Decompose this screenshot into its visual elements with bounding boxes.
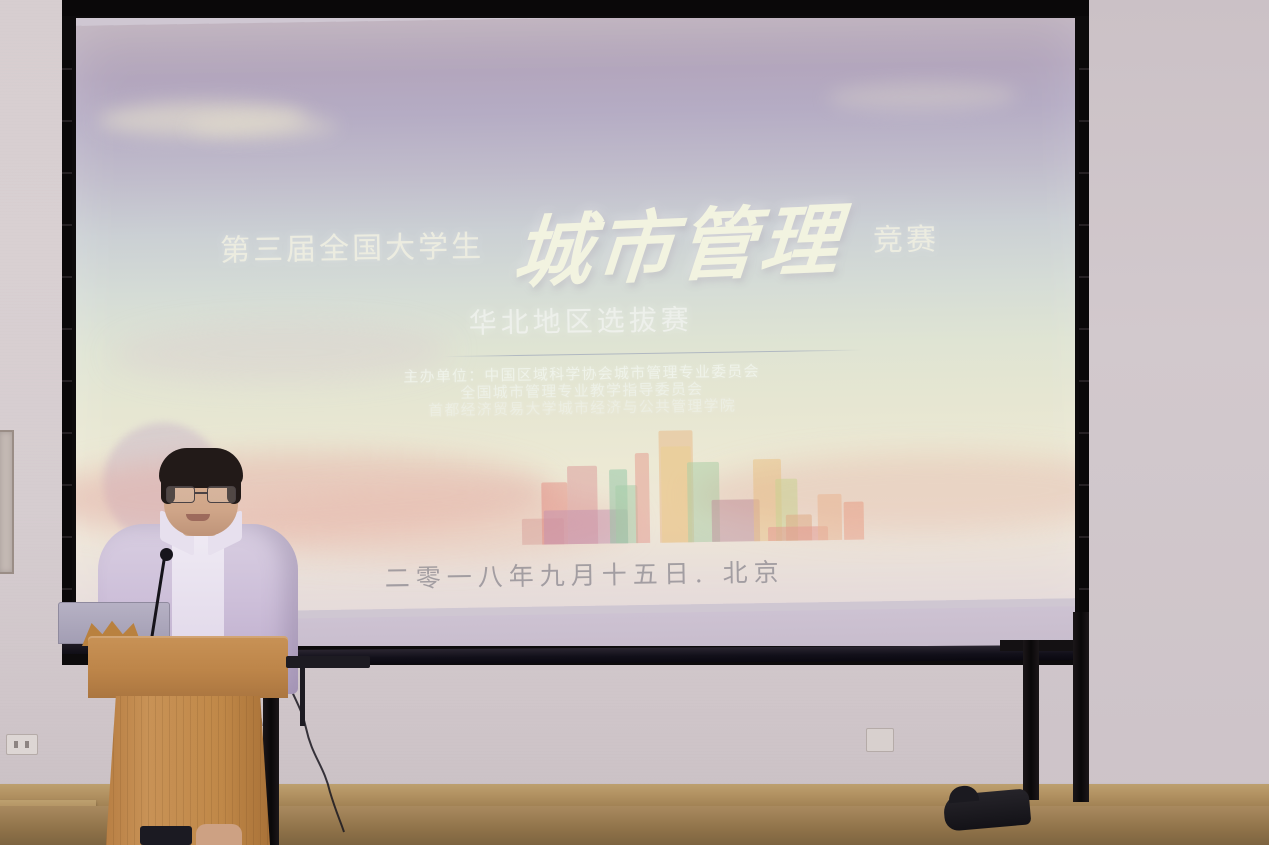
screen-stand-leg	[1073, 612, 1089, 802]
floor-bag	[943, 788, 1032, 831]
organizer-block: 主办单位：中国区域科学协会城市管理专业委员会 全国城市管理专业教学指导委员会 首…	[76, 358, 1075, 425]
power-outlet-left	[6, 734, 38, 755]
slide-title-main: 城市管理	[510, 177, 848, 303]
presenter-hands	[196, 824, 242, 845]
glasses-icon	[166, 486, 236, 501]
microphone-icon	[160, 548, 173, 561]
podium-body	[106, 696, 270, 845]
framed-notice	[0, 430, 14, 574]
presenter-mouth	[186, 514, 210, 521]
screen-edge-tabs-right	[1079, 60, 1089, 640]
screen-edge-tabs-left	[62, 60, 72, 640]
slide-title-prefix: 第三届全国大学生	[220, 221, 485, 269]
slide-title-suffix: 竞赛	[873, 214, 940, 259]
power-outlet-right	[866, 728, 894, 752]
podium-wood-grain	[106, 696, 270, 845]
glasses-lens-left	[166, 486, 195, 503]
screen-top-bar	[62, 0, 1089, 16]
screen-stand-leg	[1023, 640, 1039, 800]
av-side-table	[286, 656, 370, 668]
podium	[88, 636, 288, 845]
slide-title: 第三届全国大学生 城市管理 竞赛	[76, 178, 1075, 306]
glasses-bridge	[194, 492, 208, 494]
slide-divider	[443, 350, 863, 358]
presentation-scene: 第三届全国大学生 城市管理 竞赛 华北地区选拔赛 主办单位：中国区域科学协会城市…	[0, 0, 1269, 845]
glasses-lens-right	[207, 486, 236, 503]
podium-top	[88, 636, 288, 698]
presenter-hair	[159, 448, 243, 488]
av-side-table-leg	[300, 666, 305, 726]
